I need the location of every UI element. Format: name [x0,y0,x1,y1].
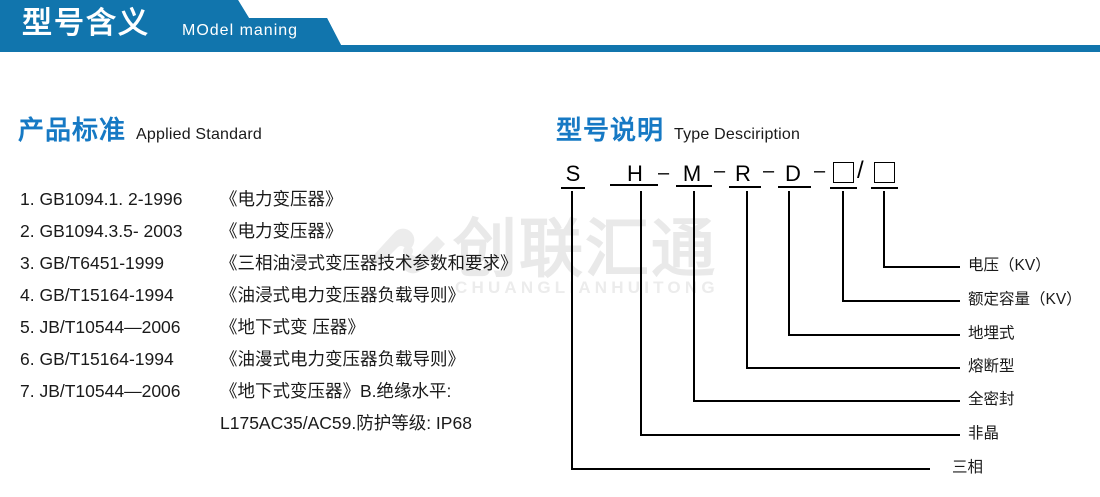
list-item: 5. JB/T10544—2006 《地下式变 压器》 [20,314,540,346]
standard-code: 6. GB/T15164-1994 [20,349,220,370]
standard-code: 7. JB/T10544—2006 [20,381,220,402]
list-item: L175AC35/AC59.防护等级: IP68 [20,410,540,442]
leader-label-voltage: 电压（KV） [968,258,1051,274]
standards-heading: 产品标准Applied Standard [18,110,262,147]
list-item: 7. JB/T10544—2006 《地下式变压器》B.绝缘水平: [20,378,540,410]
leader-label-rated-capacity: 额定容量（KV） [968,292,1082,308]
leader-rated-capacity [843,191,960,301]
leader-lines [540,155,1100,495]
standard-name: 《油浸式电力变压器负载导则》 [220,282,540,307]
leader-label-fuse-type: 熔断型 [968,359,1015,375]
type-description-heading-en: Type Desciription [674,126,800,143]
header-banner-rule [341,45,1100,52]
standards-heading-cn: 产品标准 [18,115,126,145]
standard-code: 1. GB1094.1. 2-1996 [20,189,220,210]
leader-voltage [884,191,960,267]
standard-name: L175AC35/AC59.防护等级: IP68 [220,410,540,435]
list-item: 4. GB/T15164-1994 《油浸式电力变压器负载导则》 [20,282,540,314]
standards-heading-en: Applied Standard [136,126,262,143]
standard-name: 《电力变压器》 [220,218,540,243]
standard-name: 《油漫式电力变压器负载导则》 [220,346,540,371]
standard-code: 4. GB/T15164-1994 [20,285,220,306]
list-item: 1. GB1094.1. 2-1996 《电力变压器》 [20,186,540,218]
leader-label-amorphous: 非晶 [968,426,999,442]
leader-label-three-phase: 三相 [952,460,983,476]
standards-list: 1. GB1094.1. 2-1996 《电力变压器》 2. GB1094.3.… [20,186,540,442]
type-description-heading-cn: 型号说明 [556,115,664,145]
leader-label-fully-sealed: 全密封 [968,392,1015,408]
leader-buried-type [789,191,960,335]
standard-code: 5. JB/T10544—2006 [20,317,220,338]
header-banner-notch [327,18,341,45]
header-banner: 型号含义 MOdel maning [0,0,1100,52]
leader-fully-sealed [694,191,960,401]
standard-name: 《三相油浸式变压器技术参数和要求》 [220,250,540,275]
standard-name: 《地下式变压器》B.绝缘水平: [220,378,540,403]
standard-code: 3. GB/T6451-1999 [20,253,220,274]
leader-amorphous [641,191,960,435]
list-item: 3. GB/T6451-1999 《三相油浸式变压器技术参数和要求》 [20,250,540,282]
leader-fuse-type [747,191,960,368]
leader-label-buried-type: 地埋式 [968,326,1015,342]
model-meaning-page: 型号含义 MOdel maning 创联汇通 CHUANGLIANHUITONG… [0,0,1100,497]
standard-code: 2. GB1094.3.5- 2003 [20,221,220,242]
type-description-heading: 型号说明Type Desciription [556,110,800,147]
standard-name: 《电力变压器》 [220,186,540,211]
list-item: 6. GB/T15164-1994 《油漫式电力变压器负载导则》 [20,346,540,378]
type-description-diagram: S H – M – R – D – / [540,155,1100,495]
header-title-en: MOdel maning [182,22,298,40]
header-title-cn: 型号含义 [22,4,150,44]
standard-name: 《地下式变 压器》 [220,314,540,339]
leader-three-phase [572,191,930,469]
list-item: 2. GB1094.3.5- 2003 《电力变压器》 [20,218,540,250]
